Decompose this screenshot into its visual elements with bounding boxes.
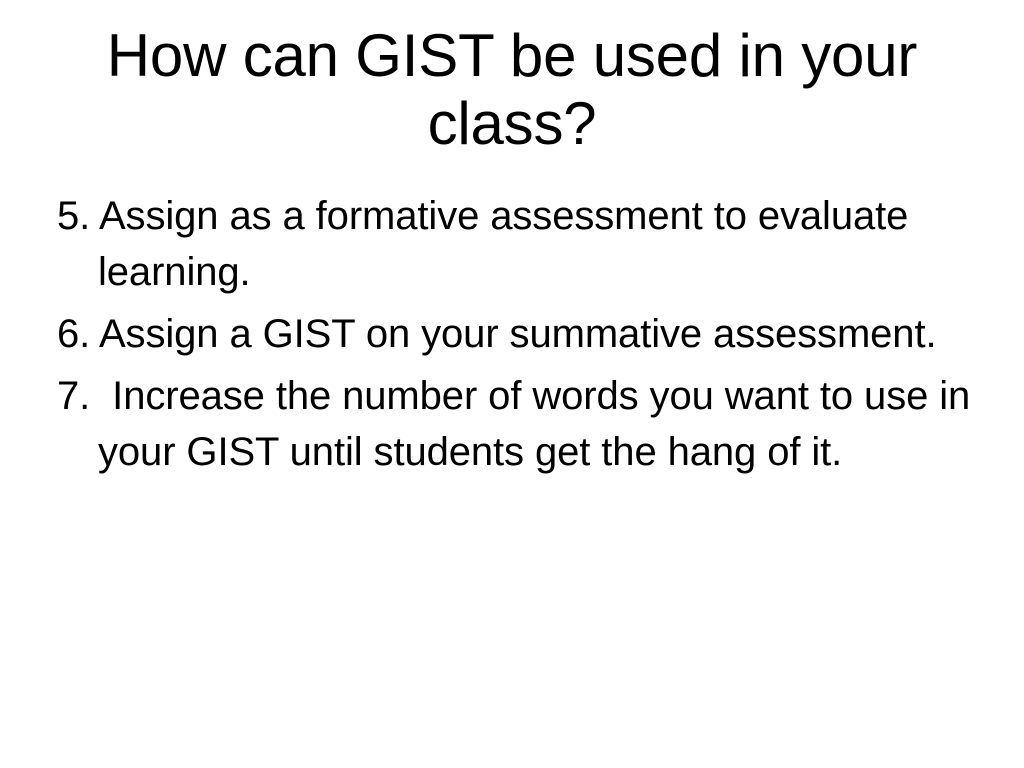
list-item: 7. Increase the number of words you want… [57,368,987,480]
list-item: 5. Assign as a formative assessment to e… [57,188,987,300]
slide-canvas: How can GIST be used in your class? 5. A… [0,0,1024,768]
numbered-list: 5. Assign as a formative assessment to e… [57,188,987,480]
page-title: How can GIST be used in your class? [80,22,944,158]
list-item: 6. Assign a GIST on your summative asses… [57,306,987,362]
